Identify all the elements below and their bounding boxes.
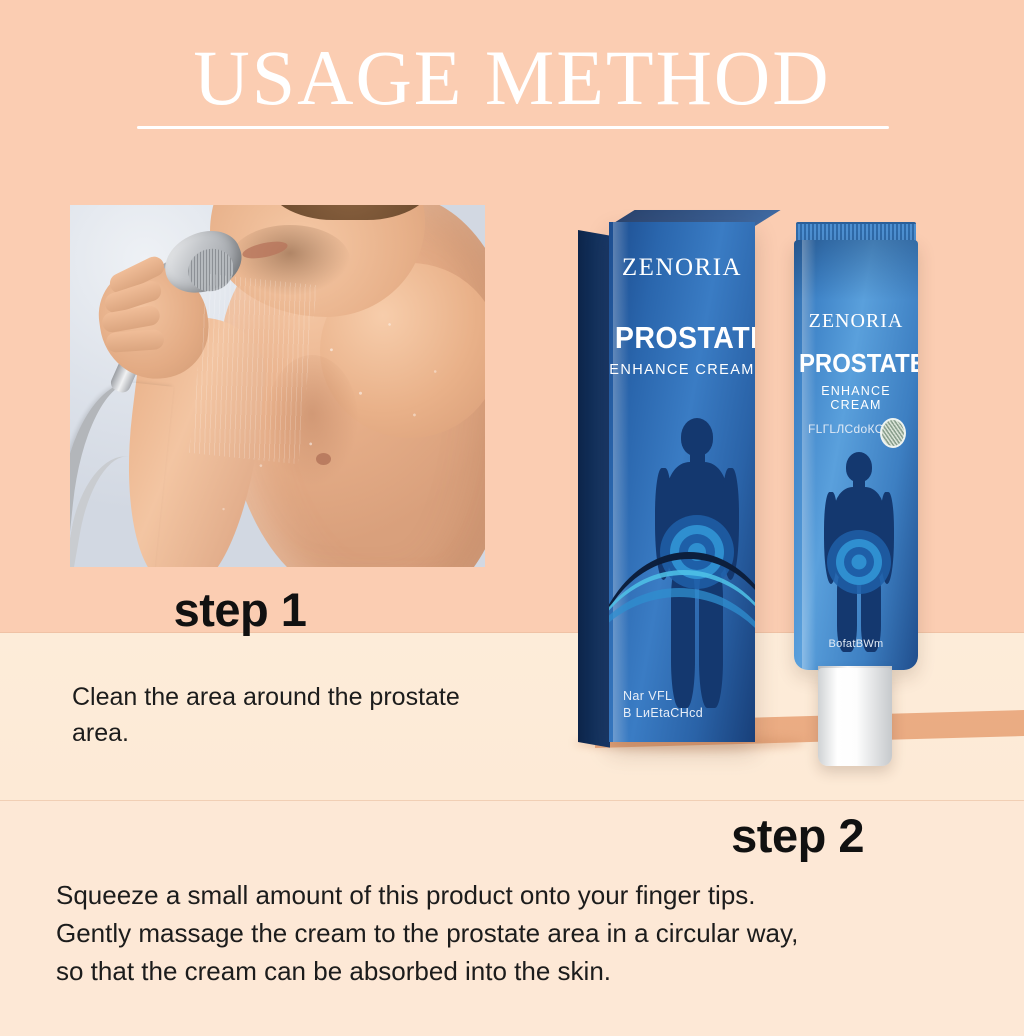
tube-body-silhouette [816,452,902,652]
step1-photo [70,205,485,567]
box-side-panel [578,230,610,748]
tube-target-rings [833,524,885,600]
box-bottom-line-2: B LиЕtaCHcd [623,705,703,722]
step-1-body-text: Clean the area around the prostate area. [72,679,492,751]
box-front-panel: ZENORIA PROSTATE ENHANCE CREAM [609,222,755,742]
step-2-heading: step 2 [504,808,864,863]
usage-method-infographic: USAGE METHOD step 1 Clean the area aroun… [0,0,1024,1036]
silhouette-head [846,452,872,482]
step-2-body-text: Squeeze a small amount of this product o… [56,876,996,990]
step-2-line-1: Squeeze a small amount of this product o… [56,876,996,914]
water-droplets [70,205,485,567]
tube-brand-name: ZENORIA [794,310,918,333]
step-1-heading: step 1 [0,582,480,637]
step-2-line-3: so that the cream can be absorbed into t… [56,952,996,990]
target-ring-1 [852,555,867,570]
box-bottom-text: Nar VFL B LиЕtaCHcd [623,688,703,722]
page-title: USAGE METHOD [0,38,1024,118]
tube-bottom-text: BofatBWm [794,638,918,650]
box-bottom-line-1: Nar VFL [623,688,703,705]
tube-body: ZENORIA PROSTATE ENHANCE CREAM FLГLЛCdoК… [794,240,918,670]
title-underline-rule [137,126,889,129]
box-product-subtitle: ENHANCE CREAM [609,362,755,378]
certification-seal-icon [880,418,906,448]
tube-product-name: PROSTATE [799,348,913,379]
tube-product-subtitle: ENHANCE CREAM [794,384,918,412]
product-tube: ZENORIA PROSTATE ENHANCE CREAM FLГLЛCdoК… [788,222,936,772]
tube-crimp-seal [796,222,916,242]
box-brand-name: ZENORIA [609,254,755,282]
silhouette-head [681,418,713,456]
tube-cap [818,668,892,766]
box-product-name: PROSTATE [615,320,749,356]
step-2-line-2: Gently massage the cream to the prostate… [56,914,996,952]
header: USAGE METHOD [0,38,1024,118]
tube-gloss-highlight [802,240,816,670]
product-box: ZENORIA PROSTATE ENHANCE CREAM [578,222,788,750]
band-seam-lower [0,800,1024,801]
